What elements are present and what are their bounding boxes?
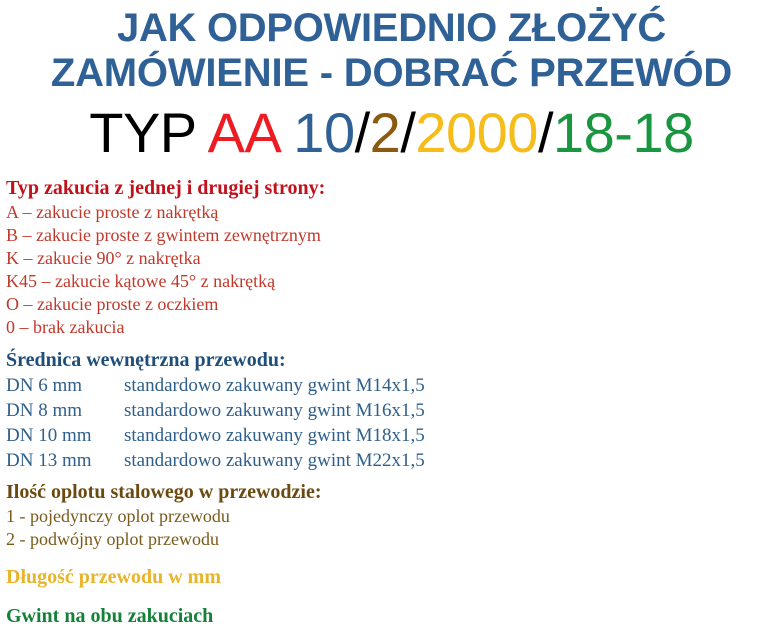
fitting-option-o: O – zakucie proste z oczkiem xyxy=(6,293,783,316)
diameter-row: DN 10 mmstandardowo zakuwany gwint M18x1… xyxy=(6,423,783,448)
section-braid-count: Ilość oplotu stalowego w przewodzie: 1 -… xyxy=(6,480,783,551)
code-separator-3: / xyxy=(538,101,553,164)
diameter-label: DN 10 mm xyxy=(6,423,124,448)
diameter-description: standardowo zakuwany gwint M18x1,5 xyxy=(124,425,425,446)
diameter-label: DN 6 mm xyxy=(6,373,124,398)
code-segment-fitting: AA xyxy=(208,101,279,164)
diameter-label: DN 8 mm xyxy=(6,398,124,423)
diameter-description: standardowo zakuwany gwint M14x1,5 xyxy=(124,375,425,396)
section-diameter-heading: Średnica wewnętrzna przewodu: xyxy=(6,348,783,373)
section-fitting-heading: Typ zakucia z jednej i drugiej strony: xyxy=(6,176,783,201)
diameter-row: DN 6 mmstandardowo zakuwany gwint M14x1,… xyxy=(6,373,783,398)
title-line-1: JAK ODPOWIEDNIO ZŁOŻYĆ xyxy=(0,6,783,51)
fitting-option-k45: K45 – zakucie kątowe 45° z nakrętką xyxy=(6,270,783,293)
braid-option-2: 2 - podwójny oplot przewodu xyxy=(6,528,783,551)
infographic-page: JAK ODPOWIEDNIO ZŁOŻYĆ ZAMÓWIENIE - DOBR… xyxy=(0,0,783,628)
code-segment-diameter: 10 xyxy=(293,101,354,164)
diameter-description: standardowo zakuwany gwint M22x1,5 xyxy=(124,450,425,471)
fitting-option-a: A – zakucie proste z nakrętką xyxy=(6,201,783,224)
code-space xyxy=(278,101,293,164)
section-length-heading: Długość przewodu w mm xyxy=(6,565,783,590)
code-segment-length: 2000 xyxy=(415,101,538,164)
fitting-option-k: K – zakucie 90° z nakrętka xyxy=(6,247,783,270)
fitting-option-b: B – zakucie proste z gwintem zewnętrznym xyxy=(6,224,783,247)
section-hose-length: Długość przewodu w mm xyxy=(6,565,783,590)
product-code-example: TYP AA 10/2/2000/18-18 xyxy=(0,102,783,164)
section-fitting-type: Typ zakucia z jednej i drugiej strony: A… xyxy=(6,176,783,339)
diameter-row: DN 8 mmstandardowo zakuwany gwint M16x1,… xyxy=(6,398,783,423)
code-prefix-typ: TYP xyxy=(89,101,207,164)
code-segment-braid: 2 xyxy=(370,101,401,164)
legend-sections: Typ zakucia z jednej i drugiej strony: A… xyxy=(0,164,783,629)
title-line-2: ZAMÓWIENIE - DOBRAĆ PRZEWÓD xyxy=(0,51,783,96)
diameter-label: DN 13 mm xyxy=(6,448,124,473)
diameter-description: standardowo zakuwany gwint M16x1,5 xyxy=(124,400,425,421)
fitting-option-0: 0 – brak zakucia xyxy=(6,316,783,339)
code-separator-1: / xyxy=(355,101,370,164)
braid-option-1: 1 - pojedynczy oplot przewodu xyxy=(6,505,783,528)
section-braid-heading: Ilość oplotu stalowego w przewodzie: xyxy=(6,480,783,505)
code-separator-2: / xyxy=(400,101,415,164)
diameter-row: DN 13 mmstandardowo zakuwany gwint M22x1… xyxy=(6,448,783,473)
section-thread: Gwint na obu zakuciach xyxy=(6,604,783,629)
code-segment-thread: 18-18 xyxy=(553,101,694,164)
section-inner-diameter: Średnica wewnętrzna przewodu: DN 6 mmsta… xyxy=(6,348,783,473)
section-thread-heading: Gwint na obu zakuciach xyxy=(6,604,783,629)
page-title: JAK ODPOWIEDNIO ZŁOŻYĆ ZAMÓWIENIE - DOBR… xyxy=(0,0,783,96)
